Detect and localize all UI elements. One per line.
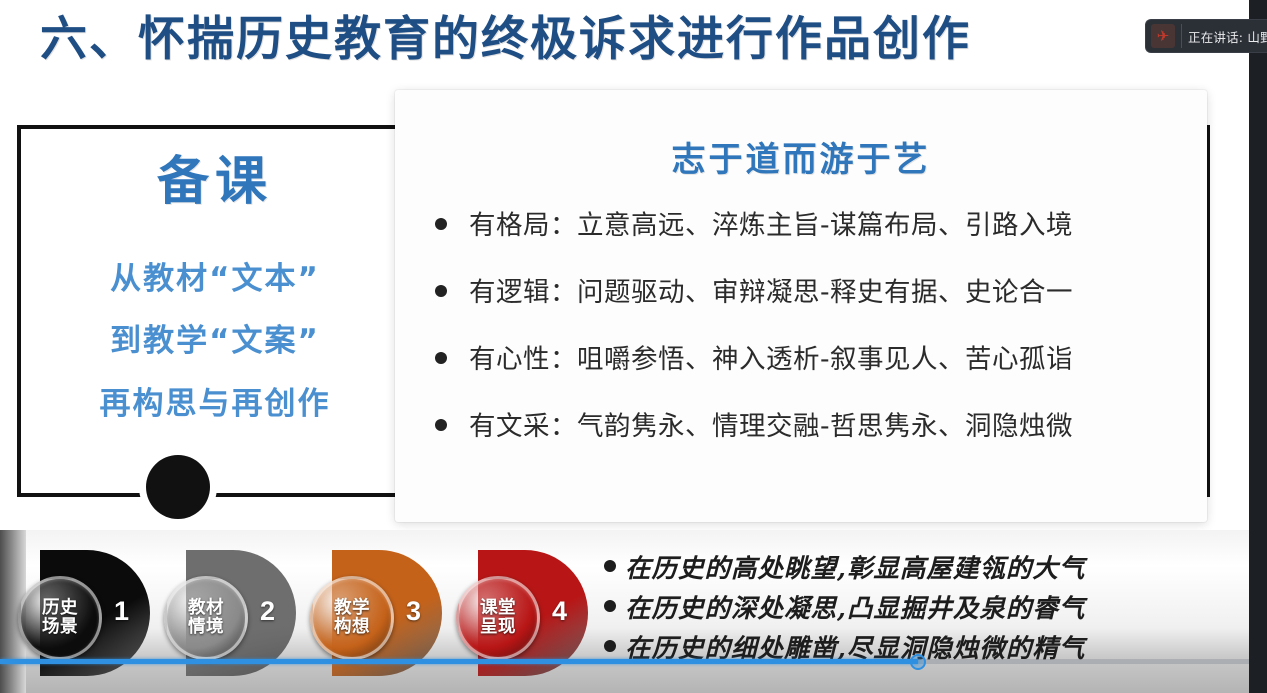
- prep-line-3: 再构思与再创作: [30, 384, 400, 424]
- step-label-top: 历史: [42, 598, 78, 618]
- progress-bar-fill[interactable]: [0, 659, 918, 664]
- step-ring: 教学 构想: [310, 576, 394, 660]
- step-ring: 历史 场景: [18, 576, 102, 660]
- closing-statements: 在历史的高处眺望,彰显高屋建瓴的大气 在历史的深处凝思,凸显掘井及泉的睿气 在历…: [604, 546, 1249, 666]
- list-item-label: 有逻辑：问题驱动、审辩凝思-释史有据、史论合一: [469, 270, 1073, 309]
- list-item: 有逻辑：问题驱动、审辩凝思-释史有据、史论合一: [435, 270, 1181, 309]
- card-list: 有格局：立意高远、淬炼主旨-谋篇布局、引路入境 有逻辑：问题驱动、审辩凝思-释史…: [421, 203, 1181, 443]
- bullet-icon: [604, 560, 616, 572]
- closing-line-1: 在历史的高处眺望,彰显高屋建瓴的大气: [604, 546, 1249, 586]
- slide-screenshot: 六、怀揣历史教育的终极诉求进行作品创作 备课 从教材“文本” 到教学“文案” 再…: [0, 0, 1267, 693]
- step-label: 教学 构想: [334, 599, 370, 637]
- closing-line-label: 在历史的高处眺望,彰显高屋建瓴的大气: [625, 548, 1085, 585]
- list-item: 有心性：咀嚼参悟、神入透析-叙事见人、苦心孤诣: [435, 337, 1181, 376]
- bullet-icon: [435, 352, 447, 364]
- prep-line-1: 从教材“文本”: [30, 259, 400, 299]
- list-item-label: 有心性：咀嚼参悟、神入透析-叙事见人、苦心孤诣: [469, 337, 1073, 376]
- step-label-bottom: 构想: [334, 617, 370, 637]
- step-ring: 课堂 呈现: [456, 576, 540, 660]
- step-number: 3: [406, 596, 421, 627]
- active-speaker-badge[interactable]: ✈ 正在讲话: 山野村: [1145, 19, 1267, 53]
- speaker-avatar-icon: ✈: [1151, 24, 1175, 48]
- content-card: 志于道而游于艺 有格局：立意高远、淬炼主旨-谋篇布局、引路入境 有逻辑：问题驱动…: [395, 90, 1207, 522]
- active-speaker-label: 正在讲话: 山野村: [1188, 27, 1267, 46]
- bullet-icon: [604, 600, 616, 612]
- list-item: 有格局：立意高远、淬炼主旨-谋篇布局、引路入境: [435, 203, 1181, 242]
- app-right-gutter: [1249, 0, 1267, 693]
- bullet-icon: [435, 285, 447, 297]
- step-label-top: 课堂: [480, 598, 516, 618]
- bullet-icon: [435, 419, 447, 431]
- step-label: 课堂 呈现: [480, 599, 516, 637]
- closing-line-2: 在历史的深处凝思,凸显掘井及泉的睿气: [604, 586, 1249, 626]
- list-item-label: 有文采：气韵隽永、情理交融-哲思隽永、洞隐烛微: [469, 404, 1073, 443]
- page-title: 六、怀揣历史教育的终极诉求进行作品创作: [40, 8, 1100, 72]
- prep-title: 备课: [30, 150, 400, 215]
- step-number: 1: [114, 596, 129, 627]
- step-label-top: 教学: [334, 598, 370, 618]
- list-item: 有文采：气韵隽永、情理交融-哲思隽永、洞隐烛微: [435, 404, 1181, 443]
- step-label-bottom: 场景: [42, 617, 78, 637]
- prep-block: 备课 从教材“文本” 到教学“文案” 再构思与再创作: [30, 150, 400, 424]
- prep-line-2: 到教学“文案”: [30, 321, 400, 361]
- card-title: 志于道而游于艺: [421, 132, 1181, 181]
- closing-line-label: 在历史的深处凝思,凸显掘井及泉的睿气: [625, 588, 1085, 625]
- step-ring: 教材 情境: [164, 576, 248, 660]
- step-label-top: 教材: [188, 598, 224, 618]
- list-item-label: 有格局：立意高远、淬炼主旨-谋篇布局、引路入境: [469, 203, 1073, 242]
- progress-bar-handle[interactable]: [910, 654, 926, 670]
- step-label-bottom: 情境: [188, 617, 224, 637]
- step-label: 历史 场景: [42, 599, 78, 637]
- bullet-icon: [604, 640, 616, 652]
- step-label: 教材 情境: [188, 599, 224, 637]
- decorative-dot: [146, 455, 210, 519]
- step-label-bottom: 呈现: [480, 617, 516, 637]
- divider: [1181, 24, 1182, 48]
- bullet-icon: [435, 218, 447, 230]
- step-number: 2: [260, 596, 275, 627]
- step-number: 4: [552, 596, 567, 627]
